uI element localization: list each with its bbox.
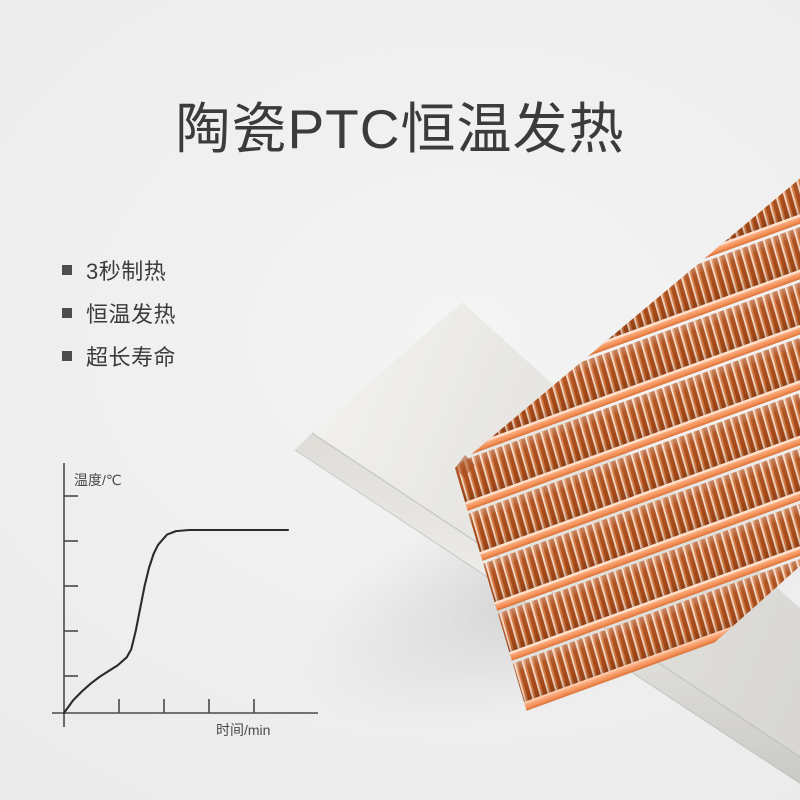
chart-xlabel: 时间/min <box>216 722 270 738</box>
chart-ylabel: 温度/℃ <box>74 472 122 488</box>
product-feature-banner: 陶瓷PTC恒温发热 3秒制热 恒温发热 超长寿命 <box>0 0 800 800</box>
feature-label: 恒温发热 <box>86 297 176 329</box>
list-item: 超长寿命 <box>62 334 302 377</box>
feature-list: 3秒制热 恒温发热 超长寿命 <box>62 248 302 377</box>
chart-series-line <box>64 530 288 713</box>
square-bullet-icon <box>62 265 72 275</box>
feature-label: 超长寿命 <box>86 340 176 372</box>
square-bullet-icon <box>62 351 72 361</box>
product-image-ptc-heater <box>250 150 800 790</box>
list-item: 恒温发热 <box>62 291 302 334</box>
feature-label: 3秒制热 <box>86 254 166 286</box>
square-bullet-icon <box>62 308 72 318</box>
temperature-time-chart: 温度/℃ 时间/min <box>40 455 330 745</box>
page-title: 陶瓷PTC恒温发热 <box>0 96 800 162</box>
chart-y-ticks <box>64 496 78 676</box>
list-item: 3秒制热 <box>62 248 302 291</box>
chart-x-ticks <box>119 699 254 713</box>
